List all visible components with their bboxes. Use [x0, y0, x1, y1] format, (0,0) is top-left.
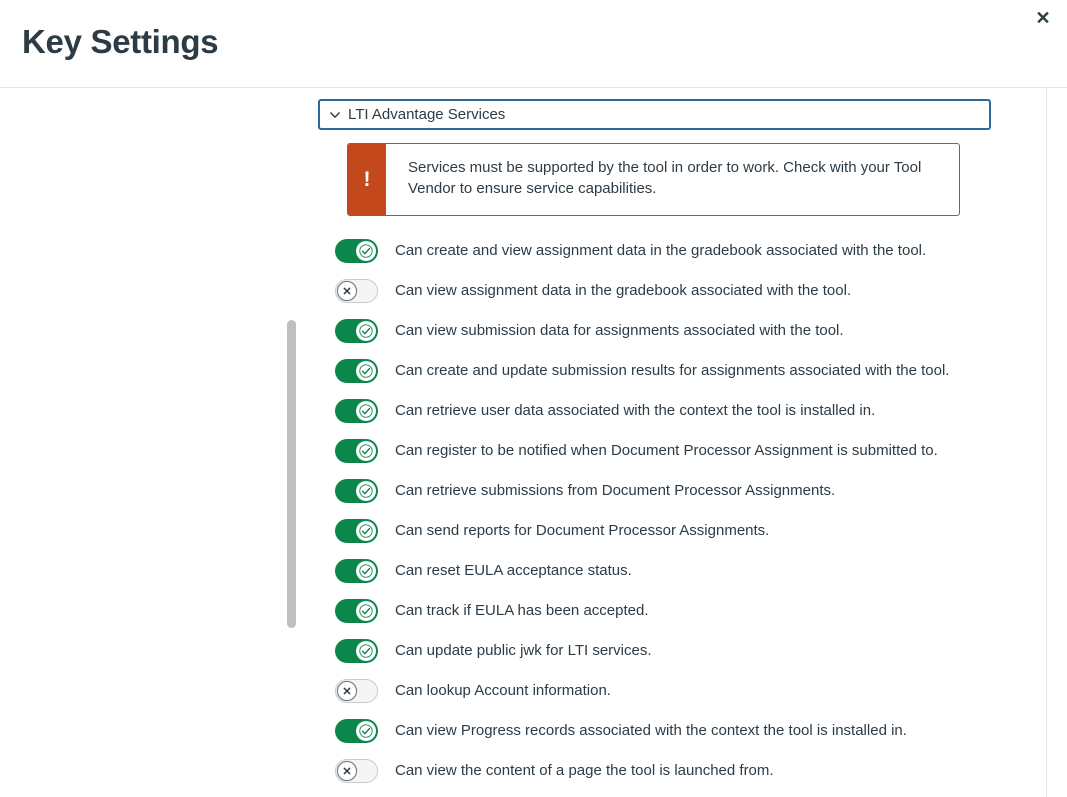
toggle-check-icon [356, 561, 376, 581]
toggle-check-icon [356, 401, 376, 421]
content-column: LTI Advantage Services ! Services must b… [318, 99, 991, 791]
close-icon: ✕ [1035, 9, 1050, 27]
service-toggle-switch[interactable] [335, 719, 378, 743]
chevron-down-icon [328, 108, 342, 122]
section-toggle-label: LTI Advantage Services [348, 107, 505, 122]
toggle-check-icon [356, 721, 376, 741]
service-toggle-switch[interactable] [335, 439, 378, 463]
service-label: Can register to be notified when Documen… [395, 441, 938, 461]
service-label: Can update public jwk for LTI services. [395, 641, 652, 661]
service-row: Can update public jwk for LTI services. [318, 631, 991, 671]
service-label: Can retrieve submissions from Document P… [395, 481, 835, 501]
service-toggle-switch[interactable] [335, 599, 378, 623]
alert-icon-block: ! [348, 144, 386, 215]
vertical-scrollbar-thumb[interactable] [287, 320, 296, 628]
service-toggle-switch[interactable] [335, 759, 378, 783]
section-toggle-lti-advantage-services[interactable]: LTI Advantage Services [318, 99, 991, 130]
service-toggle-switch[interactable] [335, 239, 378, 263]
service-toggle-switch[interactable] [335, 399, 378, 423]
toggle-check-icon [356, 641, 376, 661]
service-label: Can view Progress records associated wit… [395, 721, 907, 741]
toggle-cross-icon [337, 761, 357, 781]
service-toggle-switch[interactable] [335, 519, 378, 543]
service-row: Can reset EULA acceptance status. [318, 551, 991, 591]
service-row: Can create and view assignment data in t… [318, 231, 991, 271]
toggle-check-icon [356, 361, 376, 381]
toggle-check-icon [356, 481, 376, 501]
service-toggle-switch[interactable] [335, 639, 378, 663]
service-row: Can track if EULA has been accepted. [318, 591, 991, 631]
toggle-check-icon [356, 321, 376, 341]
right-rail [1046, 88, 1067, 797]
service-label: Can reset EULA acceptance status. [395, 561, 632, 581]
warning-exclamation-icon: ! [364, 169, 371, 190]
service-row: Can retrieve user data associated with t… [318, 391, 991, 431]
service-row: Can view the content of a page the tool … [318, 751, 991, 791]
toggle-cross-icon [337, 681, 357, 701]
service-support-warning-alert: ! Services must be supported by the tool… [347, 143, 960, 216]
service-label: Can view submission data for assignments… [395, 321, 844, 341]
service-label: Can view assignment data in the gradeboo… [395, 281, 851, 301]
service-row: Can register to be notified when Documen… [318, 431, 991, 471]
service-label: Can view the content of a page the tool … [395, 761, 774, 781]
toggle-check-icon [356, 441, 376, 461]
service-toggle-switch[interactable] [335, 359, 378, 383]
toggle-cross-icon [337, 281, 357, 301]
service-row: Can view Progress records associated wit… [318, 711, 991, 751]
service-label: Can create and update submission results… [395, 361, 949, 381]
service-row: Can view assignment data in the gradeboo… [318, 271, 991, 311]
toggle-check-icon [356, 601, 376, 621]
service-row: Can view submission data for assignments… [318, 311, 991, 351]
service-row: Can retrieve submissions from Document P… [318, 471, 991, 511]
close-button[interactable]: ✕ [1030, 5, 1056, 31]
service-label: Can send reports for Document Processor … [395, 521, 769, 541]
modal-body: LTI Advantage Services ! Services must b… [0, 88, 1067, 797]
service-toggle-switch[interactable] [335, 679, 378, 703]
service-row: Can lookup Account information. [318, 671, 991, 711]
service-toggle-list: Can create and view assignment data in t… [318, 231, 991, 791]
alert-message: Services must be supported by the tool i… [386, 144, 959, 215]
service-label: Can track if EULA has been accepted. [395, 601, 648, 621]
service-label: Can lookup Account information. [395, 681, 611, 701]
service-row: Can create and update submission results… [318, 351, 991, 391]
service-toggle-switch[interactable] [335, 479, 378, 503]
service-label: Can retrieve user data associated with t… [395, 401, 875, 421]
modal-header: Key Settings ✕ [0, 0, 1067, 88]
vertical-scrollbar-track[interactable] [287, 88, 299, 797]
service-label: Can create and view assignment data in t… [395, 241, 926, 261]
toggle-check-icon [356, 241, 376, 261]
service-row: Can send reports for Document Processor … [318, 511, 991, 551]
toggle-check-icon [356, 521, 376, 541]
service-toggle-switch[interactable] [335, 319, 378, 343]
service-toggle-switch[interactable] [335, 559, 378, 583]
service-toggle-switch[interactable] [335, 279, 378, 303]
page-title: Key Settings [22, 20, 218, 64]
